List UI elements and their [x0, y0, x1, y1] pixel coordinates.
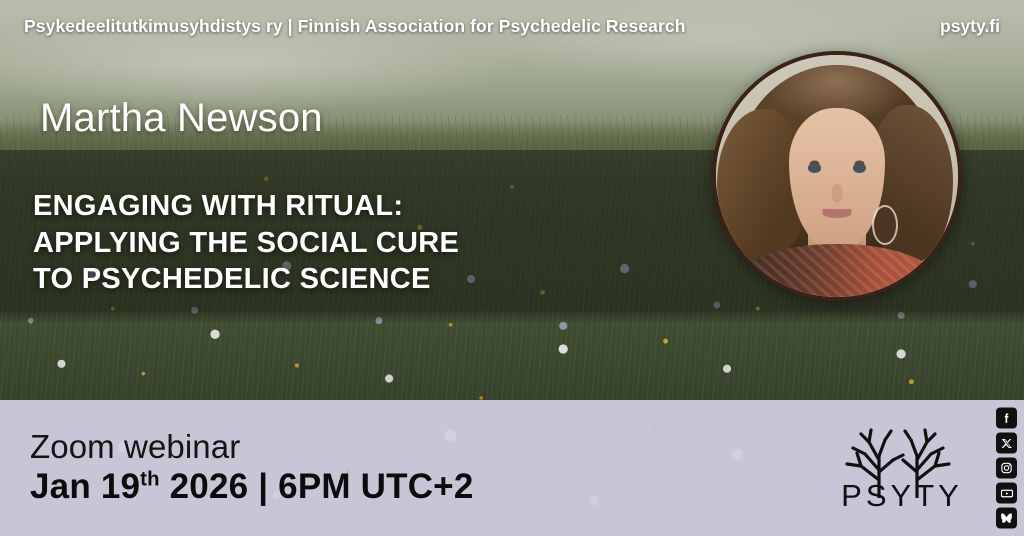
event-time: 6PM UTC+2 — [278, 467, 473, 506]
social-links — [996, 408, 1017, 529]
event-details-text: Zoom webinar Jan 19th 2026 | 6PM UTC+2 — [0, 430, 473, 506]
event-separator: | — [248, 467, 278, 506]
talk-title-line-3: to psychedelic science — [33, 261, 459, 298]
organization-name: Psykedeelitutkimusyhdistys ry | Finnish … — [24, 16, 686, 37]
event-details-bar: Zoom webinar Jan 19th 2026 | 6PM UTC+2 — [0, 400, 1024, 536]
talk-title: Engaging with ritual: Applying the socia… — [33, 188, 459, 298]
speaker-portrait — [712, 51, 962, 301]
portrait-earring — [872, 205, 898, 245]
speaker-name: Martha Newson — [40, 96, 323, 141]
facebook-icon[interactable] — [996, 408, 1017, 429]
event-datetime: Jan 19th 2026 | 6PM UTC+2 — [30, 467, 473, 506]
instagram-icon[interactable] — [996, 458, 1017, 479]
portrait-mouth — [822, 209, 851, 218]
psyty-wordmark: PSYTY — [841, 478, 963, 514]
header-bar: Psykedeelitutkimusyhdistys ry | Finnish … — [0, 0, 1024, 52]
event-date-ordinal: th — [140, 468, 160, 490]
portrait-nose — [832, 184, 843, 202]
event-date-monthday: Jan 19 — [30, 467, 140, 506]
x-twitter-icon[interactable] — [996, 433, 1017, 454]
bluesky-icon[interactable] — [996, 508, 1017, 529]
psyty-logo[interactable]: PSYTY — [838, 422, 966, 514]
event-format: Zoom webinar — [30, 430, 473, 464]
website-url[interactable]: psyty.fi — [940, 16, 1000, 37]
event-date-year: 2026 — [160, 467, 249, 506]
talk-title-line-2: Applying the social cure — [33, 225, 459, 262]
webinar-promo-banner: Psykedeelitutkimusyhdistys ry | Finnish … — [0, 0, 1024, 536]
youtube-icon[interactable] — [996, 483, 1017, 504]
talk-title-line-1: Engaging with ritual: — [33, 188, 459, 225]
portrait-image — [716, 55, 958, 297]
